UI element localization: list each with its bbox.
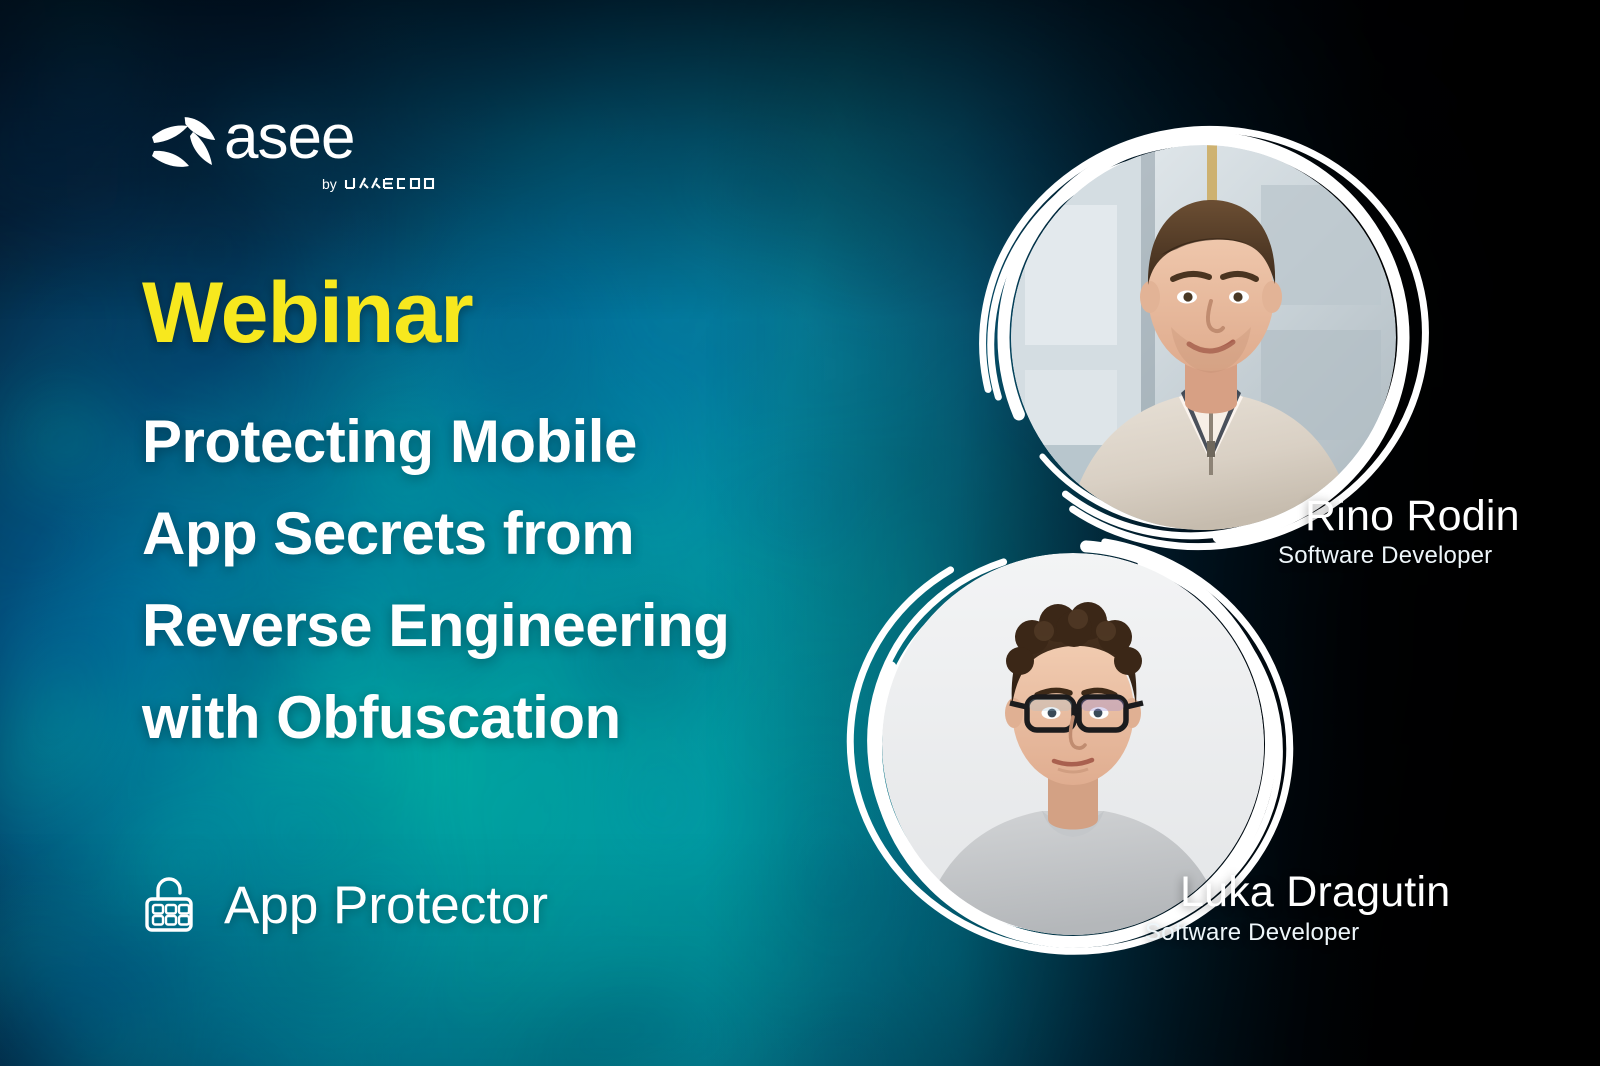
asee-wordmark: asee xyxy=(224,108,454,170)
asee-trefoil-icon xyxy=(146,114,218,178)
svg-text:by: by xyxy=(322,176,337,192)
product-name: App Protector xyxy=(224,875,548,936)
webinar-kicker: Webinar xyxy=(142,270,473,356)
open-padlock-app-grid-icon xyxy=(138,872,204,938)
asee-logo[interactable]: asee by by asseco xyxy=(146,108,454,194)
title-line-1: Protecting Mobile xyxy=(142,396,902,488)
speaker-2-name: Luka Dragutin xyxy=(1180,868,1450,917)
speaker-1-photo xyxy=(1011,145,1396,530)
asee-by-asseco-tagline: by by asseco xyxy=(322,174,452,194)
svg-text:asee: asee xyxy=(224,108,354,170)
speaker-2-role: Software Developer xyxy=(1145,919,1359,947)
app-protector-lockup[interactable]: App Protector xyxy=(138,872,548,938)
speaker-card-2: Luka Dragutin Software Developer xyxy=(770,505,1390,1005)
webinar-promo-poster: asee by by asseco Webinar Protecting Mob… xyxy=(0,0,1600,1066)
